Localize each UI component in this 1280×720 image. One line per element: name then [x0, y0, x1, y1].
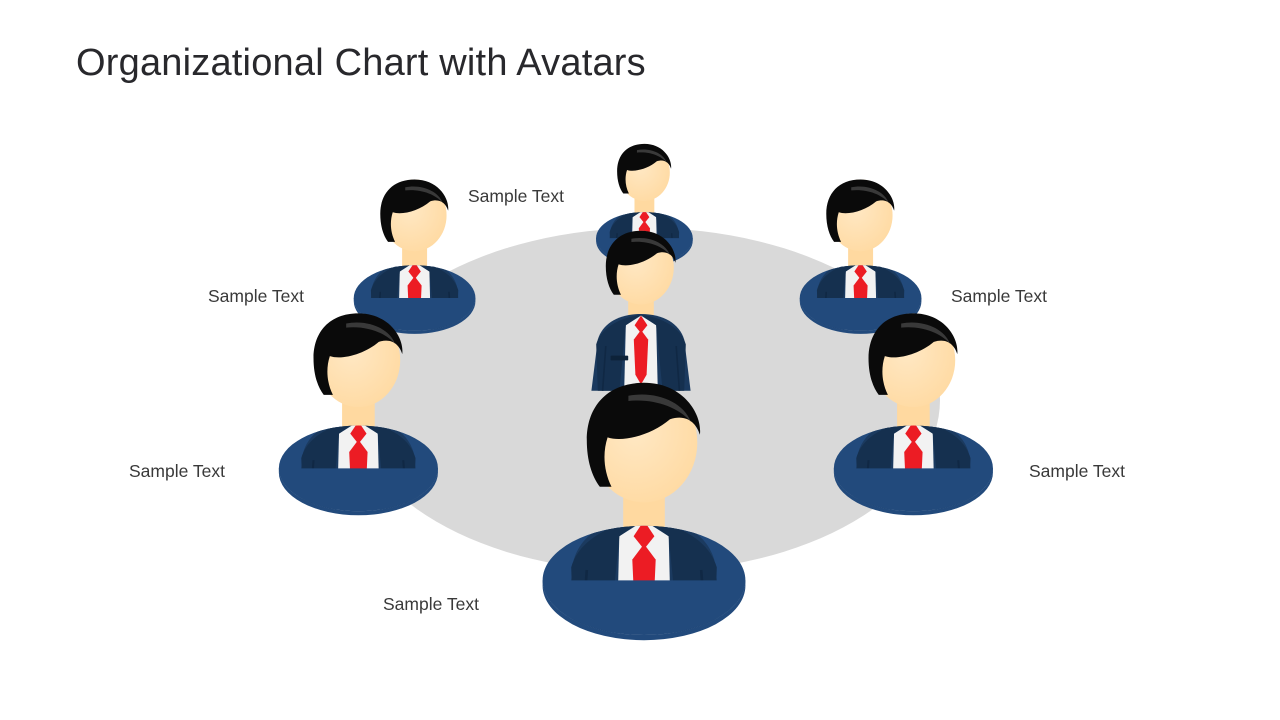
avatar-graphic — [791, 297, 1036, 552]
slide-canvas: Organizational Chart with Avatars Sample… — [0, 0, 1280, 720]
avatar-pocket — [611, 355, 629, 360]
node-label-upper-left: Sample Text — [208, 288, 304, 306]
avatar-graphic — [488, 362, 800, 687]
avatar-mid-right[interactable] — [791, 297, 1036, 552]
node-label-mid-right: Sample Text — [1029, 463, 1125, 481]
avatar-mid-left[interactable] — [236, 297, 481, 552]
node-label-mid-left: Sample Text — [129, 463, 225, 481]
org-chart-stage: Sample TextSample TextSample TextSample … — [0, 0, 1280, 720]
node-label-top-center: Sample Text — [468, 188, 564, 206]
avatar-pod-foreground — [833, 468, 992, 511]
node-label-upper-right: Sample Text — [951, 288, 1047, 306]
avatar-pod-foreground — [543, 580, 746, 635]
avatar-pod-foreground — [278, 468, 437, 511]
avatar-bottom-center[interactable] — [488, 362, 800, 687]
node-label-bottom-center: Sample Text — [383, 596, 479, 614]
avatar-graphic — [236, 297, 481, 552]
